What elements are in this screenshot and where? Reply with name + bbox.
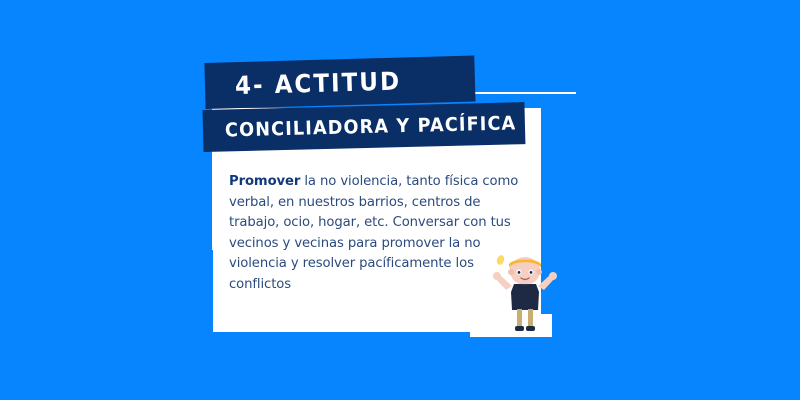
- title-banner: 4- ACTITUD: [204, 55, 475, 109]
- blue-block-left: [170, 250, 213, 360]
- page-subtitle: CONCILIADORA Y PACÍFICA: [225, 112, 517, 141]
- subtitle-banner: CONCILIADORA Y PACÍFICA: [202, 102, 525, 152]
- poster-canvas: 4- ACTITUD CONCILIADORA Y PACÍFICA Promo…: [0, 0, 800, 400]
- body-rest-text: la no violencia, tanto física como verba…: [229, 174, 518, 292]
- body-lead-word: Promover: [229, 174, 300, 189]
- body-paragraph: Promover la no violencia, tanto física c…: [229, 172, 519, 295]
- page-title: 4- ACTITUD: [235, 66, 402, 100]
- cartoon-child-icon: [492, 248, 558, 336]
- title-divider-rule: [474, 92, 576, 94]
